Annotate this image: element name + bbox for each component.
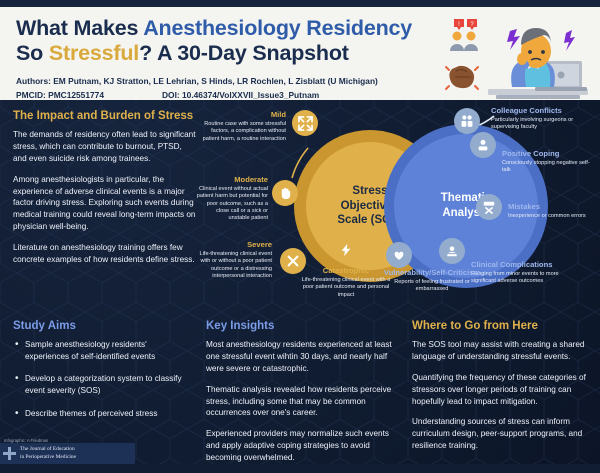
caption-moderate: Moderate Clinical event without actual p…: [196, 175, 268, 222]
caption-moderate-title: Moderate: [196, 175, 268, 184]
caption-mild: Mild Routine case with some stressful fa…: [196, 110, 286, 143]
poster-canvas: What Makes Anesthesiology Residency So S…: [0, 0, 600, 464]
caption-colleague-conflicts: Colleague Conflicts Particularly involvi…: [491, 106, 599, 132]
list-item: Sample anesthesiology residents' experie…: [13, 339, 193, 362]
title-part-plain: What Makes: [16, 16, 143, 40]
patient-monitor-icon: [445, 244, 459, 258]
journal-name: The Journal of Education in Perioperativ…: [20, 446, 76, 461]
stressed-resident-at-laptop-icon: ! ?: [440, 9, 594, 105]
caption-colleague-conflicts-title: Colleague Conflicts: [491, 106, 599, 115]
journal-logo: The Journal of Education in Perioperativ…: [0, 443, 135, 464]
medical-cross-icon: [3, 447, 16, 460]
study-aims-list: Sample anesthesiology residents' experie…: [13, 339, 193, 419]
caption-vulnerability-desc: Reports of feeling frustrated or embarra…: [378, 279, 486, 294]
caption-colleague-conflicts-desc: Particularly involving surgeons or super…: [491, 117, 599, 132]
impact-body: The demands of residency often lead to s…: [13, 129, 196, 266]
sos-node-moderate[interactable]: [272, 180, 298, 206]
theme-node-colleague-conflicts[interactable]: [454, 108, 480, 134]
impact-paragraph: Among anesthesiologists in particular, t…: [13, 174, 196, 233]
theme-node-mistakes[interactable]: [476, 194, 502, 220]
caption-mistakes-title: Mistakes: [508, 202, 600, 211]
impact-paragraph: The demands of residency often lead to s…: [13, 129, 196, 165]
title-part-highlight: Anesthesiology Residency: [143, 16, 412, 40]
person-badge-icon: [476, 138, 490, 152]
caption-vulnerability-title: Vulnerability/Self-Criticism: [378, 268, 486, 277]
caption-mild-desc: Routine case with some stressful factors…: [196, 121, 286, 143]
title-part-stressful: Stressful: [49, 41, 139, 65]
sos-node-mild[interactable]: [292, 110, 318, 136]
key-insights-paragraph: Most anesthesiology residents experience…: [206, 339, 396, 375]
pmcid-text: PMCID: PMC12551774: [16, 90, 162, 100]
journal-name-line2: in Perioperative Medicine: [20, 454, 76, 461]
caption-positive-coping-title: Positive Coping: [502, 149, 598, 158]
future-directions-heading: Where to Go from Here: [412, 320, 592, 332]
poster-header: What Makes Anesthesiology Residency So S…: [0, 0, 600, 100]
caption-severe-desc: Life-threatening clinical event with or …: [196, 251, 272, 280]
lightning-bolt-icon: [339, 243, 353, 257]
caption-vulnerability: Vulnerability/Self-Criticism Reports of …: [378, 268, 486, 294]
caption-mistakes: Mistakes Inexperience or common errors: [508, 202, 600, 220]
future-directions-paragraph: Understanding sources of stress can info…: [412, 416, 592, 452]
caption-severe: Severe Life-threatening clinical event w…: [196, 240, 272, 280]
future-directions-body: The SOS tool may assist with creating a …: [412, 339, 592, 452]
expand-arrows-icon: [298, 116, 313, 131]
sos-thematic-diagram: Stress Objectivity Scale (SOS) Thematic …: [196, 104, 600, 309]
caption-positive-coping: Positive Coping Consciously stopping neg…: [502, 149, 598, 175]
key-insights-paragraph: Experienced providers may normalize such…: [206, 428, 396, 464]
caption-positive-coping-desc: Consciously stopping negative self-talk: [502, 160, 598, 175]
caption-severe-title: Severe: [196, 240, 272, 249]
future-directions-paragraph: Quantifying the frequency of these categ…: [412, 372, 592, 408]
caption-mild-title: Mild: [196, 110, 286, 119]
stop-hand-icon: [278, 186, 293, 201]
key-insights-paragraph: Thematic analysis revealed how residents…: [206, 384, 396, 420]
caption-moderate-desc: Clinical event without actual patient ha…: [196, 186, 268, 222]
list-item: Develop a categorization system to class…: [13, 373, 193, 396]
title-part-snapshot: ? A 30-Day Snapshot: [139, 41, 349, 65]
title-part-so: So: [16, 41, 49, 65]
study-aims-section: Study Aims Sample anesthesiology residen…: [13, 320, 193, 430]
study-aims-heading: Study Aims: [13, 320, 193, 332]
future-directions-paragraph: The SOS tool may assist with creating a …: [412, 339, 592, 363]
theme-node-positive-coping[interactable]: [470, 132, 496, 158]
two-people-icon: [460, 114, 474, 128]
theme-node-clinical-complications[interactable]: [439, 238, 465, 264]
doi-text: DOI: 10.46374/VolXXVII_Issue3_Putnam: [162, 90, 319, 100]
error-form-icon: [482, 200, 496, 214]
journal-name-line1: The Journal of Education: [20, 446, 76, 453]
key-insights-section: Key Insights Most anesthesiology residen…: [206, 320, 396, 473]
theme-node-vulnerability[interactable]: [386, 242, 412, 268]
caring-hands-icon: [392, 248, 406, 262]
impact-heading: The Impact and Burden of Stress: [13, 110, 196, 122]
list-item: Describe themes of perceived stress: [13, 408, 193, 420]
impact-section: The Impact and Burden of Stress The dema…: [13, 110, 196, 275]
key-insights-heading: Key Insights: [206, 320, 396, 332]
key-insights-body: Most anesthesiology residents experience…: [206, 339, 396, 464]
future-directions-section: Where to Go from Here The SOS tool may a…: [412, 320, 592, 461]
caption-mistakes-desc: Inexperience or common errors: [508, 213, 600, 220]
sos-node-catastrophic[interactable]: [333, 237, 359, 263]
impact-paragraph: Literature on anesthesiology training of…: [13, 242, 196, 266]
